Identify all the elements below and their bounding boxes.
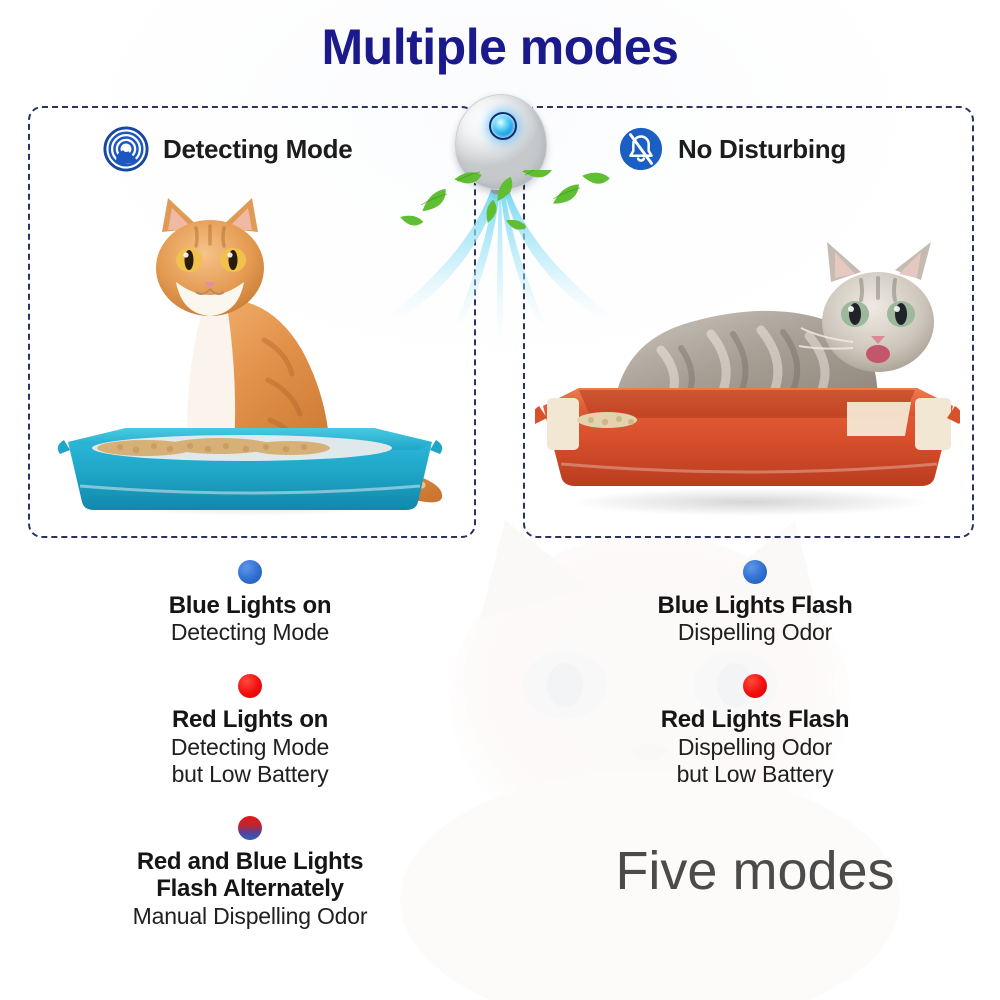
legend-item-red-blue-alternate: Red and Blue Lights Flash Alternately Ma… xyxy=(40,816,460,930)
photo-detecting-mode xyxy=(50,190,450,520)
mode-header-no-disturbing: No Disturbing xyxy=(618,126,846,172)
blue-dot-icon xyxy=(238,560,262,584)
legend-item-red-flash: Red Lights Flash Dispelling Odor but Low… xyxy=(545,674,965,788)
legend-column-left: Blue Lights on Detecting Mode Red Lights… xyxy=(40,560,460,958)
odor-dispelling-device[interactable] xyxy=(455,94,547,190)
legend-sub: Manual Dispelling Odor xyxy=(40,903,460,930)
red-dot-icon xyxy=(743,674,767,698)
red-dot-icon xyxy=(238,674,262,698)
legend-sub: Detecting Mode xyxy=(40,619,460,646)
legend-sub: but Low Battery xyxy=(545,761,965,788)
five-modes-caption: Five modes xyxy=(545,840,965,902)
mode-label-detecting: Detecting Mode xyxy=(163,134,352,165)
legend-item-blue-flash: Blue Lights Flash Dispelling Odor xyxy=(545,560,965,646)
legend-column-right: Blue Lights Flash Dispelling Odor Red Li… xyxy=(545,560,965,816)
legend-title: Blue Lights Flash xyxy=(545,592,965,619)
legend-sub: Dispelling Odor xyxy=(545,619,965,646)
mode-label-no-disturbing: No Disturbing xyxy=(678,134,846,165)
mode-header-detecting: Detecting Mode xyxy=(103,126,352,172)
bell-muted-icon xyxy=(618,126,664,172)
legend-title: Red and Blue Lights xyxy=(40,848,460,875)
photo-no-disturbing xyxy=(535,230,960,520)
page-title: Multiple modes xyxy=(0,18,1000,76)
legend-title: Flash Alternately xyxy=(40,875,460,902)
legend-item-blue-on: Blue Lights on Detecting Mode xyxy=(40,560,460,646)
legend-item-red-on: Red Lights on Detecting Mode but Low Bat… xyxy=(40,674,460,788)
legend-title: Blue Lights on xyxy=(40,592,460,619)
legend-title: Red Lights Flash xyxy=(545,706,965,733)
legend-title: Red Lights on xyxy=(40,706,460,733)
blue-dot-icon xyxy=(743,560,767,584)
legend-sub: Detecting Mode xyxy=(40,734,460,761)
legend-sub: but Low Battery xyxy=(40,761,460,788)
device-body xyxy=(455,94,547,190)
legend-sub: Dispelling Odor xyxy=(545,734,965,761)
red-blue-dot-icon xyxy=(238,816,262,840)
radar-sonar-icon xyxy=(103,126,149,172)
device-led-indicator xyxy=(489,112,517,140)
infographic-canvas: Multiple modes xyxy=(0,0,1000,1000)
